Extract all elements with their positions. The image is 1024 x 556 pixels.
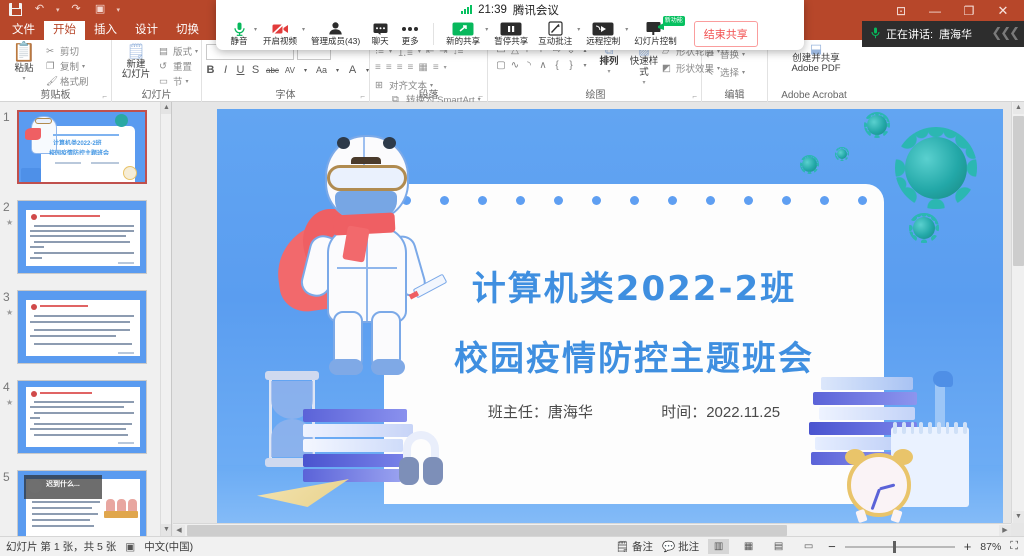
zoom-in-button[interactable]: + [964,539,972,554]
align-text-icon: ⊞ [375,80,386,91]
virus-particle-icon [905,137,967,199]
remote-control-icon [592,21,614,36]
language-label[interactable]: 中文(中国) [144,539,193,554]
section-button[interactable]: ▭节▾ [159,74,189,88]
thumbnail-scrollbar[interactable]: ▲ ▼ [160,102,171,536]
video-off-icon [272,21,289,36]
shape-right-brace-icon[interactable]: } [564,58,578,73]
annotate-button[interactable]: 互动批注 [533,21,577,47]
select-icon: ↖ [706,67,717,78]
font-format-row: B I U S abc AV▾ Aa▾ A▾ [206,64,372,76]
horizontal-scroll-thumb[interactable] [187,525,787,536]
minimize-button[interactable]: — [918,0,952,21]
comment-icon: 💬 [662,540,675,553]
new-share-icon [452,21,474,36]
annotate-icon [548,21,563,36]
speaking-name: 唐海华 [939,26,972,42]
more-dots-icon [401,21,419,36]
tab-design[interactable]: 设计 [126,21,167,40]
current-slide[interactable]: 计算机类2022-2班 校园疫情防控主题班会 班主任：唐海华 时间：2022.1… [217,109,1003,531]
shape-angle-icon[interactable]: ∧ [536,58,550,73]
tencent-meeting-toolbar[interactable]: 21:39 腾讯会议 静音 ▾ 开启视频 ▾ 管理成员(43) [216,0,804,50]
font-color-button[interactable]: A [348,64,357,76]
slide-control-button[interactable]: 新功能 幻灯片控制 [629,21,682,47]
thumbnail-title-2: 校园疫情防控主题班会 [49,148,119,155]
microphone-icon [233,21,246,36]
align-right-icon[interactable]: ≡ [397,62,403,73]
thumbnail-title-1: 计算机类2022-2班 [53,138,115,145]
section-icon: ▭ [159,76,170,87]
slide-thumbnail-panel[interactable]: 1 计算机类2022-2班 校园疫情防控主题班会 2 ★ [0,102,172,536]
annotate-dropdown-icon[interactable]: ▾ [577,26,580,33]
date-label: 时间：2022.11.25 [661,404,780,421]
status-left: 幻灯片 第 1 张，共 5 张 ▣ 中文(中国) [6,539,193,554]
thumbnail-item-3[interactable]: 3 ★ [0,288,172,372]
thumbnail-number: 5 [3,470,10,484]
thumbnail-item-4[interactable]: 4 ★ [0,378,172,462]
slide-title-line-1: 计算机类2022-2班 [384,261,884,310]
meeting-controls-row: 静音 ▾ 开启视频 ▾ 管理成员(43) 聊天 更多 [224,19,758,49]
new-slide-icon: 🗒 [126,43,145,60]
shape-rounded-rect-icon[interactable]: ▢ [494,58,508,73]
normal-view-button[interactable]: ▥ [708,539,729,554]
close-button[interactable]: ✕ [986,0,1020,21]
canvas-horizontal-scrollbar[interactable]: ◀ ▶ [173,523,1011,536]
paste-button[interactable]: 📋 粘贴 ▾ [4,43,44,85]
group-label-drawing: 绘图 [490,90,701,102]
thumbnail-number: 4 [3,380,10,394]
text-direction-icon[interactable]: ≡ [433,62,439,73]
window-controls: ⊡ — ❐ ✕ [884,0,1020,21]
paste-caret-icon[interactable]: ▾ [22,74,25,85]
replace-icon: ⇄ [706,49,717,60]
group-label-slides: 幻灯片 [112,90,201,102]
columns-icon[interactable]: ▦ [418,62,427,73]
ribbon-group-slides: 🗒 新建 幻灯片 ▤版式▾ ↺重置 ▭节▾ 幻灯片 [112,40,202,102]
more-button[interactable]: 更多 [395,21,425,47]
reset-button[interactable]: ↺重置 [159,59,192,73]
paragraph-row-2: ≡ ≡ ≡ ≡ ▦ ≡▾ [375,62,447,73]
remote-control-button[interactable]: 远程控制 [581,21,625,47]
ribbon-display-options-icon[interactable]: ⊡ [884,0,918,21]
tab-insert[interactable]: 插入 [85,21,126,40]
thumbnail-slide-5[interactable]: 迟到什么... [17,470,147,536]
vertical-scroll-thumb[interactable] [1013,116,1024,266]
animation-star-icon: ★ [6,218,13,227]
thumbnail-slide-2[interactable] [17,200,147,274]
layout-button[interactable]: ▤版式▾ [159,44,198,58]
redo-icon[interactable]: ↷ [69,2,84,17]
customize-qat-icon[interactable]: ▾ [117,6,121,14]
slide-sorter-view-button[interactable]: ▦ [738,539,759,554]
canvas-vertical-scrollbar[interactable]: ▲ ▼ [1011,102,1024,523]
thumbnail-item-2[interactable]: 2 ★ [0,198,172,282]
thumbnail-slide-4[interactable] [17,380,147,454]
select-button[interactable]: ↖选择▾ [706,65,745,79]
format-painter-icon: 🖌 [46,76,57,87]
virus-particle-icon [867,115,887,135]
shape-arc-icon[interactable]: ◝ [522,58,536,73]
new-share-dropdown-icon[interactable]: ▾ [485,26,488,33]
participants-icon [328,21,343,36]
tab-transitions[interactable]: 切换 [167,21,208,40]
tab-home[interactable]: 开始 [44,21,85,40]
group-label-clipboard: 剪贴板 [0,90,111,102]
cut-button[interactable]: ✂剪切 [46,44,79,58]
shapes-more-icon[interactable]: ▾ [578,58,592,73]
zoom-level-label[interactable]: 87% [980,541,1001,553]
copy-button[interactable]: ❐复制▾ [46,59,85,73]
animation-star-icon: ★ [6,308,13,317]
copy-icon: ❐ [46,61,57,72]
paste-icon: 📋 [12,43,36,63]
tab-file[interactable]: 文件 [3,21,44,40]
align-center-icon[interactable]: ≡ [386,62,392,73]
scroll-right-icon[interactable]: ▶ [999,525,1011,536]
calendar-rings-icon [893,422,967,432]
slide-canvas-area: 计算机类2022-2班 校园疫情防控主题班会 班主任：唐海华 时间：2022.1… [173,102,1024,536]
font-dialog-launcher[interactable]: ⌐ [360,92,365,101]
end-share-button[interactable]: 结束共享 [694,21,758,47]
start-video-button[interactable]: 开启视频 [258,21,302,47]
thumbnail-number: 2 [3,200,10,214]
chat-icon [373,21,388,36]
scroll-down-icon[interactable]: ▼ [1013,511,1024,523]
desk-lamp-head-icon [933,371,953,387]
slide-title-line-2: 校园疫情防控主题班会 [384,331,884,380]
group-label-font: 字体 [202,90,369,102]
audio-wave-icon: ❮❮❮ [991,25,1018,41]
thumbnail-item-5[interactable]: 5 迟到什么... [0,468,172,536]
quick-access-toolbar: ↶ ▾ ↷ ▣ ▾ [8,2,120,17]
underline-button[interactable]: U [236,64,245,76]
scroll-up-icon[interactable]: ▲ [161,102,172,114]
reset-icon: ↺ [159,61,170,72]
scissors-icon: ✂ [46,46,57,57]
pause-share-button[interactable]: 暂停共享 [489,21,533,47]
signal-bars-icon [461,5,472,14]
scroll-down-icon[interactable]: ▼ [161,524,172,536]
thumbnail-slide-3[interactable] [17,290,147,364]
format-painter-button[interactable]: 🖌格式刷 [46,74,89,88]
zoom-slider[interactable] [845,540,955,554]
new-slide-button[interactable]: 🗒 新建 幻灯片 [116,43,156,80]
proofing-icon[interactable]: ▣ [125,541,135,553]
decorative-dot-row [402,196,868,205]
meeting-app-name: 腾讯会议 [513,2,559,18]
strikethrough-button[interactable]: abc [266,66,279,75]
fit-slide-icon[interactable]: ⛶ [1010,540,1018,553]
notes-icon: 🗒 [616,540,629,553]
microphone-small-icon [871,27,880,42]
thumbnail-item-1[interactable]: 1 计算机类2022-2班 校园疫情防控主题班会 [0,108,172,192]
reading-view-button[interactable]: ▤ [768,539,789,554]
shape-left-brace-icon[interactable]: { [550,58,564,73]
speaking-indicator: 正在讲话: 唐海华 ❮❮❮ [862,21,1024,47]
bold-button[interactable]: B [206,64,215,76]
toolbar-divider [433,23,434,45]
virus-particle-icon [913,217,935,239]
scroll-up-icon[interactable]: ▲ [1013,102,1024,114]
headphones-icon [399,431,443,487]
notes-button[interactable]: 🗒备注 [616,539,653,554]
teacher-label: 班主任：唐海华 [488,404,593,421]
italic-button[interactable]: I [221,64,230,76]
restore-button[interactable]: ❐ [952,0,986,21]
pause-share-icon [500,21,522,36]
meeting-clock: 21:39 [478,4,507,16]
clipboard-dialog-launcher[interactable]: ⌐ [102,92,107,101]
virus-particle-icon [837,149,847,159]
speaking-prefix: 正在讲话: [886,26,933,42]
justify-icon[interactable]: ≡ [408,62,414,73]
thumbnail-number: 1 [3,110,10,124]
layout-icon: ▤ [159,46,170,57]
video-dropdown-icon[interactable]: ▾ [302,26,305,33]
comments-button[interactable]: 💬批注 [662,539,699,554]
mic-dropdown-icon[interactable]: ▾ [254,26,257,33]
chat-button[interactable]: 聊天 [365,21,395,47]
thumbnail-slide-1[interactable]: 计算机类2022-2班 校园疫情防控主题班会 [17,110,147,184]
save-icon[interactable] [8,2,23,17]
shadow-button[interactable]: S [251,64,260,76]
drawing-dialog-launcher[interactable]: ⌐ [692,92,697,101]
alarm-clock-icon [847,453,911,517]
new-feature-badge: 新功能 [663,16,685,26]
align-left-icon[interactable]: ≡ [375,62,381,73]
virus-particle-icon [802,157,817,172]
animation-star-icon: ★ [6,398,13,407]
zoom-out-button[interactable]: − [828,539,836,554]
slide-counter[interactable]: 幻灯片 第 1 张，共 5 张 [6,539,116,554]
meeting-status-row: 21:39 腾讯会议 [216,1,804,18]
shape-effects-icon: ◩ [662,63,673,74]
manage-participants-button[interactable]: 管理成员(43) [306,21,365,47]
change-case-button[interactable]: Aa [316,65,327,75]
undo-dropdown-icon[interactable]: ▾ [56,6,60,14]
mute-button[interactable]: 静音 [224,21,254,47]
new-share-button[interactable]: 新的共享 [441,21,485,47]
ribbon-group-clipboard: 📋 粘贴 ▾ ✂剪切 ❐复制▾ 🖌格式刷 剪贴板 ⌐ [0,40,112,102]
shape-curve-icon[interactable]: ∿ [508,58,522,73]
group-label-editing: 编辑 [702,90,767,102]
undo-icon[interactable]: ↶ [32,2,47,17]
status-bar: 幻灯片 第 1 张，共 5 张 ▣ 中文(中国) 🗒备注 💬批注 ▥ ▦ ▤ ▭… [0,536,1024,556]
powerpoint-window: ↶ ▾ ↷ ▣ ▾ ⊡ — ❐ ✕ 文件 开始 插入 设计 切换 动画 幻灯 📋 [0,0,1024,556]
quick-styles-button[interactable]: ▨ 快速样式 ▾ [626,45,662,89]
scroll-left-icon[interactable]: ◀ [173,525,185,536]
group-label-acrobat: Adobe Acrobat [768,90,860,102]
thumbnail-number: 3 [3,290,10,304]
remote-control-dropdown-icon[interactable]: ▾ [625,26,628,33]
start-slideshow-icon[interactable]: ▣ [93,2,108,17]
slideshow-view-button[interactable]: ▭ [798,539,819,554]
status-right: 🗒备注 💬批注 ▥ ▦ ▤ ▭ − + 87% ⛶ [616,539,1018,554]
character-spacing-button[interactable]: AV [285,66,295,75]
